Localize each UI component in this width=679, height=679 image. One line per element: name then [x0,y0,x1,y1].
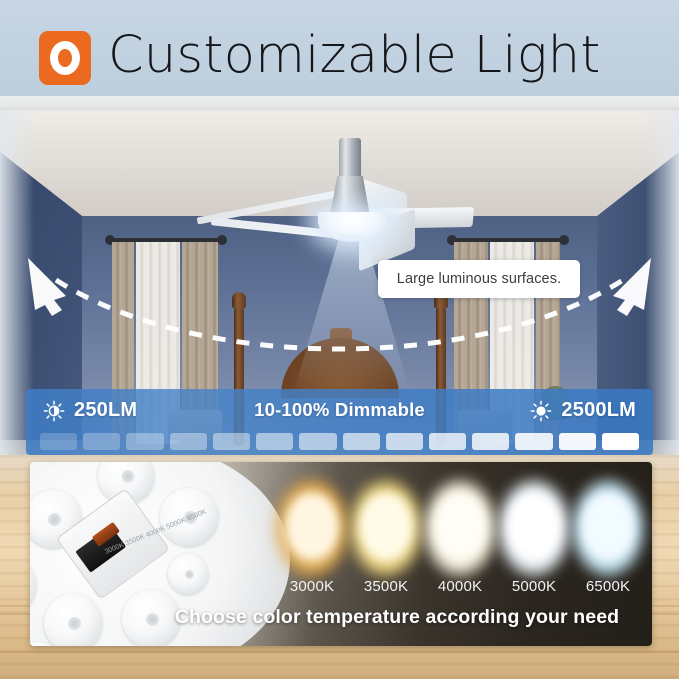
cct-label-6500k: 6500K [572,578,644,595]
wood-seam [0,651,679,653]
cct-glow-core [361,494,411,558]
dim-segment [126,433,163,450]
orange-ring-logo-icon [50,41,80,75]
dim-segment [83,433,120,450]
cct-label-5000k: 5000K [498,578,570,595]
cct-label-3000k: 3000K [276,578,348,595]
dim-segment [559,433,596,450]
ceiling-fan-icon [271,138,431,256]
dimmable-range-label: 10-100% Dimmable [254,399,425,420]
dim-segment [40,433,77,450]
sun-bright-icon [530,400,552,422]
callout-box: Large luminous surfaces. [378,260,580,298]
dim-segment [256,433,293,450]
fan-downrod [339,138,361,182]
dim-segment [429,433,466,450]
callout-text: Large luminous surfaces. [397,271,561,287]
dim-segment [299,433,336,450]
lumens-max-label: 2500LM [561,399,636,422]
cct-label-4000k: 4000K [424,578,496,595]
dim-segment [343,433,380,450]
dim-segment [386,433,423,450]
color-temperature-panel: 3000K 3500K 4000K 5000K 6500K 3000K3500K… [30,462,652,646]
cct-glow-core [583,494,633,558]
dimmable-bar: 250LM 10-100% Dimmable 2500LM [26,389,653,455]
brand-logo [39,31,91,85]
lumens-max-group: 2500LM [530,399,636,422]
dim-segment [602,433,639,450]
dim-segment [515,433,552,450]
cct-glow-core [509,494,559,558]
dim-segment [472,433,509,450]
led-lens [168,554,208,594]
cct-glow-core [435,494,485,558]
bed-post-cap-left [232,292,246,308]
dim-segment [170,433,207,450]
cct-tagline: Choose color temperature according your … [30,606,652,629]
cct-glow-core [287,494,337,558]
dim-segment [213,433,250,450]
product-feature-image: Customizable Light [0,0,679,679]
cct-label-3500k: 3500K [350,578,422,595]
page-title: Customizable Light [108,24,601,88]
header-divider [0,96,679,110]
dim-level-segments [40,433,639,450]
header-banner: Customizable Light [0,0,679,96]
color-temperature-glows [276,480,646,584]
color-temperature-labels: 3000K3500K4000K5000K6500K [276,578,652,602]
